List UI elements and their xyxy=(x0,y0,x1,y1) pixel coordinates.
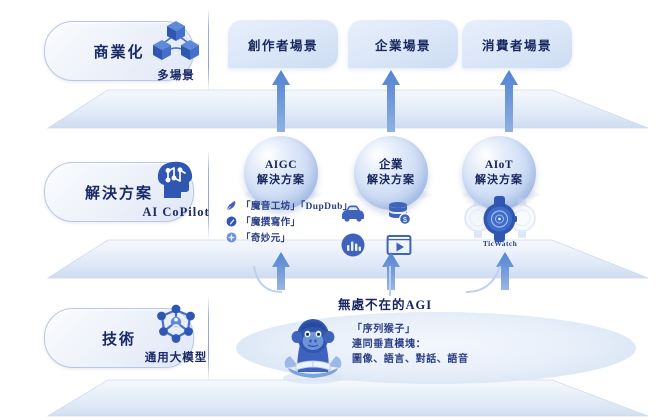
finance-stack-icon[interactable]: $ xyxy=(386,200,412,226)
enterprise-icon-grid: $ xyxy=(340,200,420,258)
icon-caption-multi-scenario: 多場景 xyxy=(157,67,195,83)
sphere-aiot-line1: AIoT xyxy=(485,158,513,174)
sparkle-circle-icon xyxy=(226,232,237,243)
cubes-network-icon xyxy=(153,20,199,64)
ai-head-icon xyxy=(154,158,198,202)
model-line-2: 圖像、語言、對話、語音 xyxy=(352,352,469,367)
product-row-moyin[interactable]: 「魔音工坊」「DupDub」 xyxy=(226,198,353,212)
diagram-canvas: 商業化 多場景 創作者場景 xyxy=(0,0,660,410)
scenario-box-creator-label: 創作者場景 xyxy=(248,35,318,54)
monkey-reading-icon xyxy=(276,312,350,391)
product-row-mozhuan-text: 「魔撰寫作」 xyxy=(241,214,300,228)
product-row-qimiaoyuan[interactable]: 「奇妙元」 xyxy=(226,230,353,244)
sphere-enterprise-solution[interactable]: 企業 解決方案 xyxy=(354,136,428,210)
scenario-box-consumer[interactable]: 消費者場景 xyxy=(462,20,572,68)
product-row-qimiaoyuan-text: 「奇妙元」 xyxy=(241,230,291,244)
perspective-plane-commercialization xyxy=(0,88,660,130)
car-icon[interactable] xyxy=(340,200,366,226)
pen-circle-icon xyxy=(226,216,237,227)
arrow-up-consumer xyxy=(496,70,522,137)
scenario-box-creator[interactable]: 創作者場景 xyxy=(228,20,338,68)
sphere-enterprise-line2: 解決方案 xyxy=(367,173,415,188)
svg-text:$: $ xyxy=(403,217,407,224)
aigc-product-list: 「魔音工坊」「DupDub」 「魔撰寫作」 「奇妙元」 xyxy=(226,198,353,246)
sphere-enterprise-line1: 企業 xyxy=(379,158,403,174)
icon-foundation-model: 通用大模型 xyxy=(130,304,222,365)
arrow-up-creator xyxy=(268,70,294,137)
feather-icon xyxy=(226,200,237,211)
model-line-1: 連同垂直模塊： xyxy=(352,337,469,352)
icon-caption-ai-copilot: AI CoPilot xyxy=(142,205,209,220)
icon-multi-scenario: 多場景 xyxy=(136,20,216,83)
ticwatch-brand-label: TicWatch xyxy=(452,239,548,248)
product-row-mozhuan[interactable]: 「魔撰寫作」 xyxy=(226,214,353,228)
product-row-moyin-text: 「魔音工坊」「DupDub」 xyxy=(241,198,353,212)
sphere-aigc-line1: AIGC xyxy=(265,158,297,174)
scenario-box-enterprise-label: 企業場景 xyxy=(375,35,431,54)
model-name: 「序列猴子」 xyxy=(352,322,469,337)
scenario-box-enterprise[interactable]: 企業場景 xyxy=(348,20,458,68)
icon-ai-copilot: AI CoPilot xyxy=(128,158,224,220)
sphere-aigc-line2: 解決方案 xyxy=(257,173,305,188)
agi-label: 無處不在的AGI xyxy=(338,294,432,313)
model-description: 「序列猴子」 連同垂直模塊： 圖像、語言、對話、語音 xyxy=(352,322,469,367)
molecule-network-icon xyxy=(152,304,200,346)
arrow-up-enterprise xyxy=(378,70,404,137)
audio-bars-icon[interactable] xyxy=(340,232,366,258)
ticwatch-cluster[interactable]: TicWatch xyxy=(452,196,548,246)
sphere-aiot-line2: 解決方案 xyxy=(475,173,523,188)
scenario-box-consumer-label: 消費者場景 xyxy=(482,35,552,54)
icon-caption-foundation-model: 通用大模型 xyxy=(145,349,208,365)
